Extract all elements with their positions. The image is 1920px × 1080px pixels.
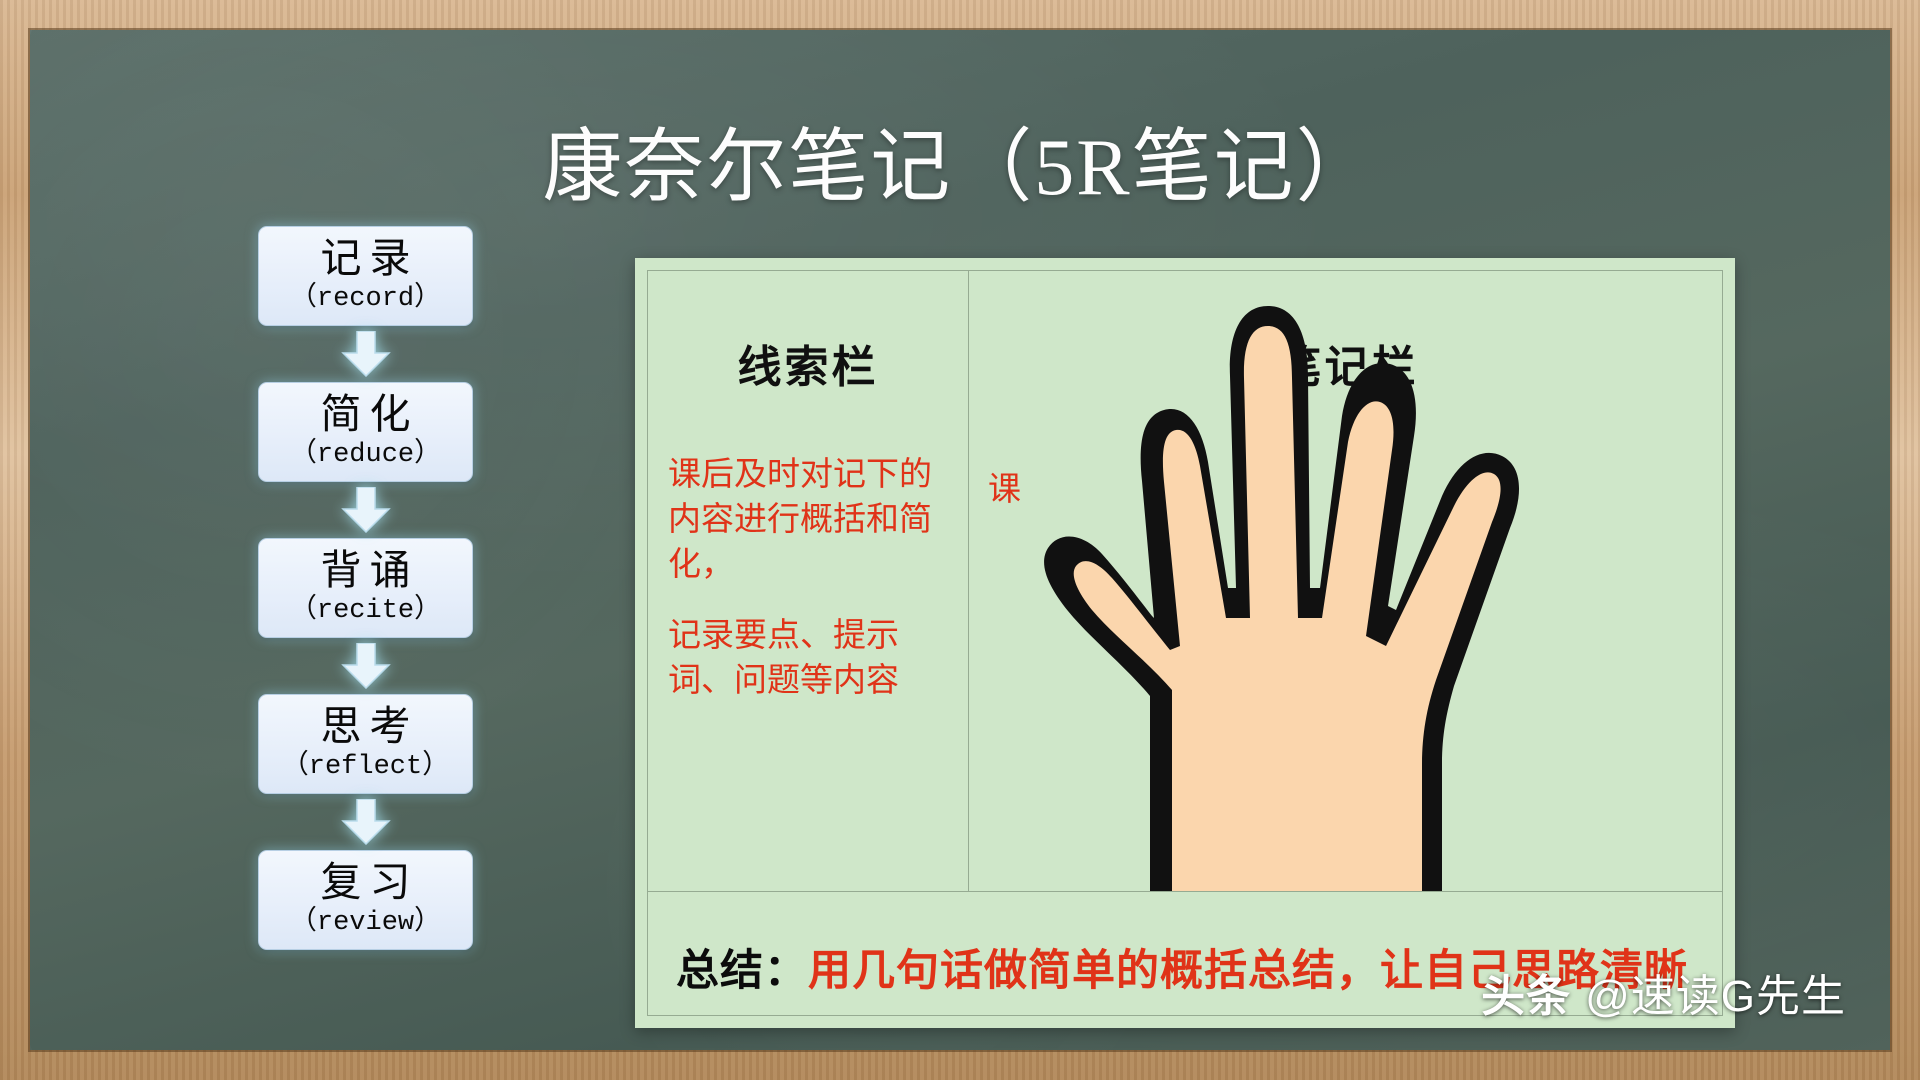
flow-step-label-en: （recite）	[259, 595, 472, 627]
down-arrow-icon	[339, 643, 393, 689]
watermark: 头条 @速读G先生	[1481, 960, 1846, 1024]
flow-step-label-cn: 简化	[259, 389, 472, 439]
watermark-brand: 头条	[1481, 960, 1571, 1024]
cue-column-body: 课后及时对记下的内容进行概括和简化， 记录要点、提示词、问题等内容	[668, 451, 964, 702]
cornell-note-card: 线索栏 笔记栏 课后及时对记下的内容进行概括和简化， 记录要点、提示词、问题等内…	[635, 258, 1735, 1028]
flow-step-label-en: （reduce）	[259, 439, 472, 471]
summary-row-divider	[648, 891, 1722, 892]
flow-step-label-en: （record）	[259, 283, 472, 315]
page-title: 康奈尔笔记（5R笔记）	[30, 102, 1890, 218]
flow-step-record[interactable]: 记录 （record）	[258, 226, 473, 326]
chalkboard: 康奈尔笔记（5R笔记） 记录 （record） 简化 （reduce） 背诵 （…	[30, 30, 1890, 1050]
flow-step-reduce[interactable]: 简化 （reduce）	[258, 382, 473, 482]
flow-step-label-cn: 复习	[259, 857, 472, 907]
flow-step-label-cn: 思考	[259, 701, 472, 751]
summary-label: 总结：	[676, 936, 808, 998]
five-r-flow-column: 记录 （record） 简化 （reduce） 背诵 （recite）	[258, 226, 473, 950]
cue-paragraph: 课后及时对记下的内容进行概括和简化，	[668, 451, 964, 586]
watermark-handle: @速读G先生	[1585, 960, 1846, 1024]
flow-step-label-cn: 背诵	[259, 545, 472, 595]
flow-step-recite[interactable]: 背诵 （recite）	[258, 538, 473, 638]
down-arrow-icon	[339, 331, 393, 377]
flow-step-label-en: （reflect）	[259, 751, 472, 783]
note-paragraph: 课	[988, 470, 1021, 507]
flow-step-review[interactable]: 复习 （review）	[258, 850, 473, 950]
cue-column-heading: 线索栏	[648, 331, 968, 395]
cue-paragraph: 记录要点、提示词、问题等内容	[668, 612, 964, 702]
flow-step-reflect[interactable]: 思考 （reflect）	[258, 694, 473, 794]
note-column-heading: 笔记栏	[968, 331, 1728, 395]
down-arrow-icon	[339, 487, 393, 533]
flow-step-label-en: （review）	[259, 907, 472, 939]
note-column-body: 课	[988, 466, 1708, 512]
slide-root: 康奈尔笔记（5R笔记） 记录 （record） 简化 （reduce） 背诵 （…	[0, 0, 1920, 1080]
down-arrow-icon	[339, 799, 393, 845]
note-card-inner-border: 线索栏 笔记栏 课后及时对记下的内容进行概括和简化， 记录要点、提示词、问题等内…	[647, 270, 1723, 1016]
flow-step-label-cn: 记录	[259, 233, 472, 283]
